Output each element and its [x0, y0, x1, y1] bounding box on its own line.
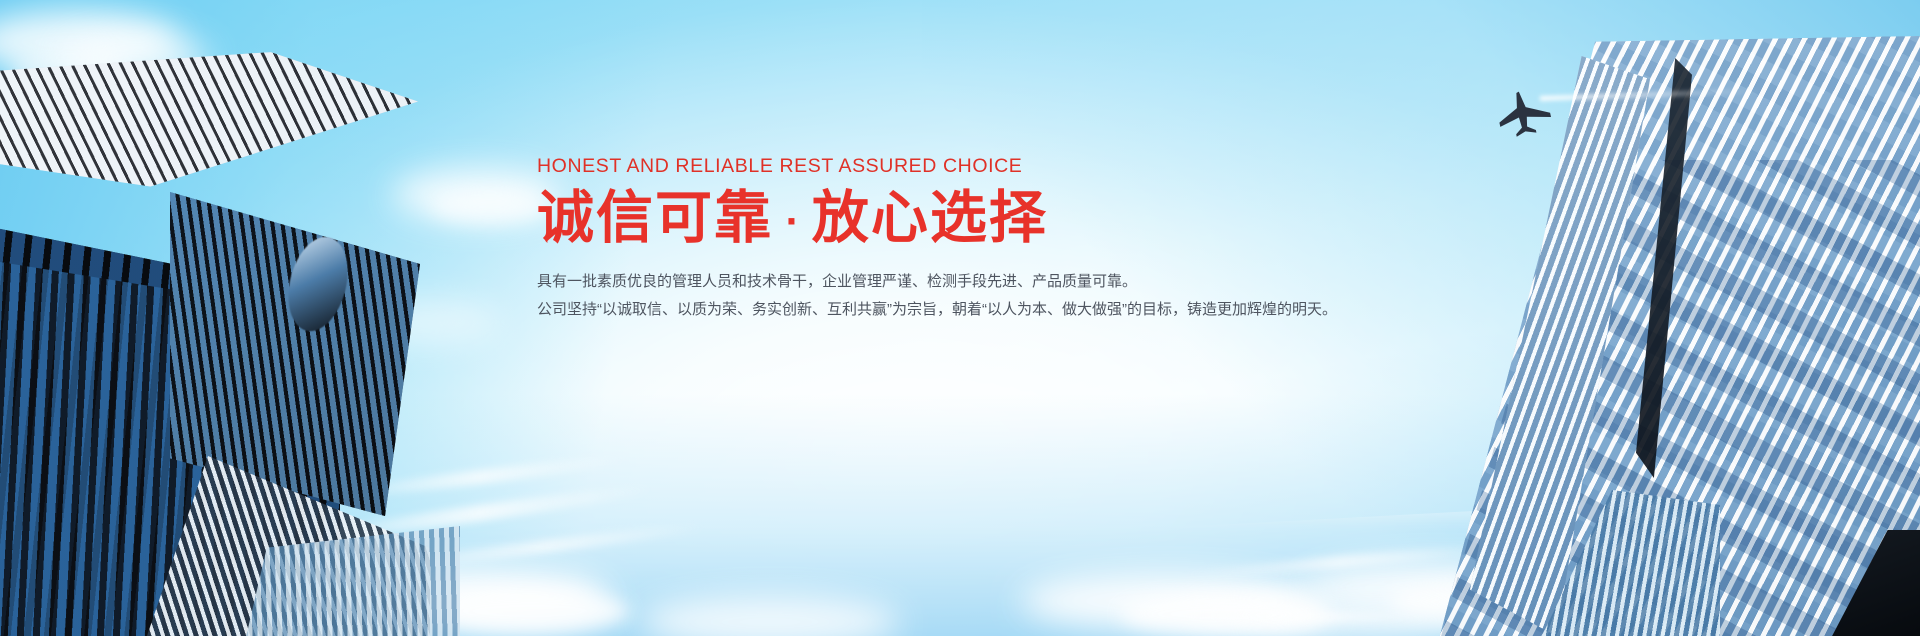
banner-headline: 诚信可靠·放心选择 — [537, 187, 1337, 251]
headline-right-text: 放心选择 — [812, 185, 1048, 251]
banner-copy: HONEST AND RELIABLE REST ASSURED CHOICE … — [537, 155, 1337, 323]
right-bright-skyscraper — [1370, 40, 1920, 636]
headline-left-text: 诚信可靠 — [537, 185, 773, 251]
hero-banner: HONEST AND RELIABLE REST ASSURED CHOICE … — [0, 0, 1920, 636]
banner-eyebrow: HONEST AND RELIABLE REST ASSURED CHOICE — [537, 155, 1337, 178]
banner-description-line-2: 公司坚持“以诚取信、以质为荣、务实创新、互利共赢”为宗旨，朝着“以人为本、做大做… — [537, 297, 1337, 323]
banner-description-line-1: 具有一批素质优良的管理人员和技术骨干，企业管理严谨、检测手段先进、产品质量可靠。 — [537, 269, 1337, 295]
headline-separator: · — [785, 202, 800, 242]
left-dark-skyscraper — [0, 56, 430, 636]
